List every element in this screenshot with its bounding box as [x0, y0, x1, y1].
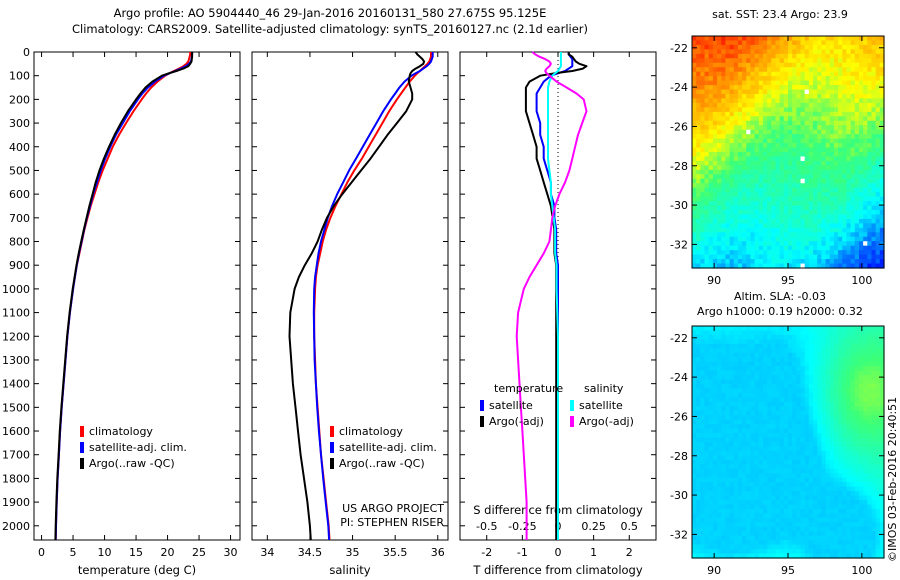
map-cell [805, 139, 810, 144]
map-cell [842, 397, 847, 402]
map-cell [792, 148, 797, 153]
map-cell [692, 496, 697, 501]
map-cell [771, 357, 776, 362]
map-cell [763, 326, 768, 331]
map-cell [876, 397, 881, 402]
map-cell [809, 330, 814, 335]
map-cell [775, 326, 780, 331]
map-cell [771, 513, 776, 518]
map-cell [838, 424, 843, 429]
map-cell [867, 94, 872, 99]
map-cell [876, 384, 881, 389]
map-cell [700, 179, 705, 184]
map-cell [851, 371, 856, 376]
map-cell [767, 433, 772, 438]
map-cell [696, 228, 701, 233]
temperature-panel: 0100200300400500600700800900100011001200… [2, 46, 240, 577]
map-cell [767, 228, 772, 233]
map-cell [734, 223, 739, 228]
map-cell [750, 63, 755, 68]
map-cell [713, 339, 718, 344]
map-cell [876, 487, 881, 492]
map-cell [705, 72, 710, 77]
map-cell [813, 63, 818, 68]
map-cell [734, 473, 739, 478]
map-cell [742, 469, 747, 474]
map-cell [713, 76, 718, 81]
map-cell [746, 219, 751, 224]
map-cell [771, 63, 776, 68]
map-cell [738, 161, 743, 166]
map-cell [859, 54, 864, 59]
map-cell [838, 393, 843, 398]
map-cell [767, 496, 772, 501]
map-cell [813, 148, 818, 153]
map-cell [813, 259, 818, 264]
map-cell [709, 76, 714, 81]
map-cell [775, 45, 780, 50]
map-cell [788, 49, 793, 54]
map-cell [725, 94, 730, 99]
map-cell [855, 259, 860, 264]
map-cell [855, 143, 860, 148]
map-cell [788, 165, 793, 170]
map-cell [775, 255, 780, 260]
map-cell [826, 81, 831, 86]
map-cell [721, 491, 726, 496]
map-cell [826, 380, 831, 385]
map-cell [809, 45, 814, 50]
map-cell [692, 179, 697, 184]
map-cell [784, 54, 789, 59]
map-cell [855, 438, 860, 443]
map-cell [826, 406, 831, 411]
map-cell [780, 362, 785, 367]
map-cell [696, 348, 701, 353]
map-cell [780, 415, 785, 420]
map-cell [838, 206, 843, 211]
map-cell [863, 139, 868, 144]
map-cell [859, 143, 864, 148]
map-cell [763, 353, 768, 358]
map-cell [771, 121, 776, 126]
map-cell [759, 545, 764, 550]
map-cell [876, 161, 881, 166]
map-cell [759, 411, 764, 416]
map-cell [796, 183, 801, 188]
map-cell [813, 335, 818, 340]
map-cell [838, 161, 843, 166]
map-cell [700, 406, 705, 411]
map-cell [730, 531, 735, 536]
map-cell [842, 125, 847, 130]
map-cell [750, 116, 755, 121]
map-cell [734, 469, 739, 474]
map-cell [813, 513, 818, 518]
map-cell [830, 451, 835, 456]
map-cell [759, 40, 764, 45]
map-cell [830, 513, 835, 518]
map-cell [805, 156, 810, 161]
map-cell [813, 192, 818, 197]
map-cell [730, 371, 735, 376]
map-cell [750, 344, 755, 349]
map-cell [796, 500, 801, 505]
map-cell [730, 388, 735, 393]
map-cell [830, 90, 835, 95]
map-cell [834, 130, 839, 135]
map-cell [730, 76, 735, 81]
map-cell [700, 371, 705, 376]
map-cell [809, 536, 814, 541]
map-cell [767, 206, 772, 211]
map-cell [746, 464, 751, 469]
map-cell [830, 344, 835, 349]
map-cell [867, 139, 872, 144]
map-cell [801, 500, 806, 505]
map-cell [755, 451, 760, 456]
map-cell [692, 250, 697, 255]
map-cell [750, 522, 755, 527]
map-cell [750, 49, 755, 54]
map-cell [696, 326, 701, 331]
map-cell [871, 509, 876, 514]
map-cell [817, 192, 822, 197]
depth-tick-label: 400 [9, 141, 30, 154]
map-cell [788, 330, 793, 335]
map-cell [717, 420, 722, 425]
map-cell [750, 94, 755, 99]
map-cell [713, 192, 718, 197]
map-cell [830, 527, 835, 532]
map-cell [805, 36, 810, 41]
map-cell [713, 85, 718, 90]
map-cell [838, 451, 843, 456]
map-cell [855, 518, 860, 523]
map-cell [692, 545, 697, 550]
map-cell [784, 223, 789, 228]
map-cell [867, 504, 872, 509]
map-cell [750, 67, 755, 72]
map-cell [796, 362, 801, 367]
map-cell [742, 540, 747, 545]
map-cell [851, 326, 856, 331]
map-cell [851, 246, 856, 251]
map-cell [863, 339, 868, 344]
map-cell [796, 478, 801, 483]
map-cell [709, 469, 714, 474]
map-cell [817, 420, 822, 425]
map-cell [826, 237, 831, 242]
map-cell [784, 76, 789, 81]
map-cell [771, 81, 776, 86]
map-cell [784, 134, 789, 139]
map-cell [784, 344, 789, 349]
map-cell [805, 179, 810, 184]
map-cell [851, 107, 856, 112]
map-cell [738, 107, 743, 112]
map-cell [755, 473, 760, 478]
map-cell [709, 125, 714, 130]
map-cell [817, 228, 822, 233]
map-cell [821, 170, 826, 175]
map-cell [809, 496, 814, 501]
map-cell [788, 455, 793, 460]
map-cell [871, 58, 876, 63]
map-cell [838, 326, 843, 331]
map-cell [846, 165, 851, 170]
map-cell [784, 415, 789, 420]
map-cell [725, 500, 730, 505]
map-cell [867, 85, 872, 90]
map-cell [717, 107, 722, 112]
map-cell [801, 214, 806, 219]
map-cell [734, 246, 739, 251]
map-cell [817, 509, 822, 514]
map-cell [750, 174, 755, 179]
map-cell [834, 125, 839, 130]
map-cell [755, 58, 760, 63]
map-cell [738, 259, 743, 264]
map-cell [805, 81, 810, 86]
map-cell [738, 219, 743, 224]
map-cell [784, 496, 789, 501]
map-cell [805, 500, 810, 505]
map-cell [838, 487, 843, 492]
map-cell [826, 72, 831, 77]
map-cell [738, 402, 743, 407]
map-cell [717, 380, 722, 385]
map-cell [855, 366, 860, 371]
map-cell [813, 469, 818, 474]
map-cell [734, 442, 739, 447]
map-cell [855, 362, 860, 367]
map-cell [780, 509, 785, 514]
map-cell [826, 429, 831, 434]
map-cell [801, 504, 806, 509]
map-cell [801, 545, 806, 550]
figure-title-line1: Argo profile: AO 5904440_46 29-Jan-2016 … [0, 6, 660, 20]
map-cell [713, 478, 718, 483]
map-cell [867, 72, 872, 77]
map-cell [763, 201, 768, 206]
map-cell [738, 188, 743, 193]
map-cell [817, 134, 822, 139]
map-cell [692, 228, 697, 233]
map-cell [742, 491, 747, 496]
map-cell [846, 90, 851, 95]
map-cell [826, 170, 831, 175]
map-cell [771, 72, 776, 77]
map-cell [771, 179, 776, 184]
map-cell [771, 259, 776, 264]
map-cell [705, 54, 710, 59]
map-cell [734, 156, 739, 161]
map-cell [763, 197, 768, 202]
map-cell [842, 536, 847, 541]
map-cell [692, 339, 697, 344]
map-cell [755, 156, 760, 161]
map-cell [700, 161, 705, 166]
map-cell [809, 522, 814, 527]
map-cell [763, 63, 768, 68]
map-cell [696, 188, 701, 193]
map-cell [742, 255, 747, 260]
map-cell [780, 335, 785, 340]
map-cell [725, 482, 730, 487]
map-cell [788, 540, 793, 545]
map-cell [792, 94, 797, 99]
map-cell [738, 174, 743, 179]
map-cell [801, 438, 806, 443]
map-cell [759, 143, 764, 148]
map-cell [692, 380, 697, 385]
map-cell [734, 518, 739, 523]
map-cell [746, 536, 751, 541]
temperature-tick-label: 20 [161, 546, 175, 559]
map-cell [692, 112, 697, 117]
map-cell [734, 380, 739, 385]
map-cell [859, 201, 864, 206]
map-cell [871, 250, 876, 255]
map-cell [742, 478, 747, 483]
map-cell [809, 174, 814, 179]
map-cell [771, 255, 776, 260]
map-cell [717, 500, 722, 505]
map-cell [801, 125, 806, 130]
map-cell [792, 442, 797, 447]
map-cell [730, 348, 735, 353]
map-cell [784, 478, 789, 483]
map-cell [805, 94, 810, 99]
map-cell [842, 94, 847, 99]
map-cell [834, 259, 839, 264]
map-cell [742, 353, 747, 358]
map-cell [813, 76, 818, 81]
map-cell [809, 219, 814, 224]
map-cell [871, 63, 876, 68]
map-cell [846, 152, 851, 157]
map-cell [742, 455, 747, 460]
map-cell [730, 223, 735, 228]
map-cell [809, 344, 814, 349]
map-cell [859, 380, 864, 385]
map-cell [788, 76, 793, 81]
map-cell [759, 442, 764, 447]
map-cell [830, 81, 835, 86]
map-cell [771, 45, 776, 50]
map-cell [775, 130, 780, 135]
map-cell [851, 522, 856, 527]
map-cell [817, 98, 822, 103]
map-cell [788, 241, 793, 246]
map-cell [792, 504, 797, 509]
map-cell [763, 206, 768, 211]
map-cell [767, 107, 772, 112]
map-cell [713, 161, 718, 166]
map-cell [855, 156, 860, 161]
map-cell [834, 40, 839, 45]
map-cell [742, 496, 747, 501]
map-cell [738, 72, 743, 77]
map-cell [709, 482, 714, 487]
map-cell [759, 527, 764, 532]
map-cell [813, 415, 818, 420]
map-cell [705, 36, 710, 41]
map-cell [742, 339, 747, 344]
map-cell [771, 170, 776, 175]
map-cell [692, 464, 697, 469]
map-cell [767, 330, 772, 335]
map-cell [755, 36, 760, 41]
map-cell [834, 487, 839, 492]
map-cell [755, 438, 760, 443]
map-cell [705, 85, 710, 90]
map-cell [817, 348, 822, 353]
map-cell [705, 460, 710, 465]
map-cell [759, 161, 764, 166]
map-cell [771, 451, 776, 456]
map-cell [767, 67, 772, 72]
map-cell [792, 210, 797, 215]
map-cell [775, 531, 780, 536]
map-cell [821, 81, 826, 86]
map-cell [780, 496, 785, 501]
map-cell [692, 90, 697, 95]
map-cell [838, 411, 843, 416]
map-cell [838, 165, 843, 170]
map-cell [780, 487, 785, 492]
map-cell [826, 513, 831, 518]
map-cell [763, 125, 768, 130]
map-cell [809, 335, 814, 340]
map-cell [763, 40, 768, 45]
map-cell [826, 531, 831, 536]
map-cell [863, 156, 868, 161]
map-cell [775, 223, 780, 228]
map-cell [775, 183, 780, 188]
map-cell [700, 375, 705, 380]
map-cell [855, 353, 860, 358]
map-cell [713, 527, 718, 532]
map-cell [796, 473, 801, 478]
map-cell [709, 40, 714, 45]
map-cell [709, 67, 714, 72]
depth-tick-label: 1700 [2, 449, 30, 462]
map-cell [796, 330, 801, 335]
map-cell [767, 112, 772, 117]
map-cell [805, 54, 810, 59]
map-cell [755, 81, 760, 86]
map-cell [842, 81, 847, 86]
map-cell [734, 107, 739, 112]
map-cell [771, 161, 776, 166]
map-cell [863, 76, 868, 81]
map-cell [792, 85, 797, 90]
map-cell [771, 90, 776, 95]
map-cell [750, 197, 755, 202]
map-cell [755, 402, 760, 407]
map-cell [784, 362, 789, 367]
map-cell [771, 446, 776, 451]
map-cell [863, 98, 868, 103]
map-cell [742, 348, 747, 353]
map-cell [846, 438, 851, 443]
map-cell [842, 540, 847, 545]
map-cell [709, 85, 714, 90]
legend-label: satellite-adj. clim. [89, 441, 187, 454]
map-cell [717, 353, 722, 358]
